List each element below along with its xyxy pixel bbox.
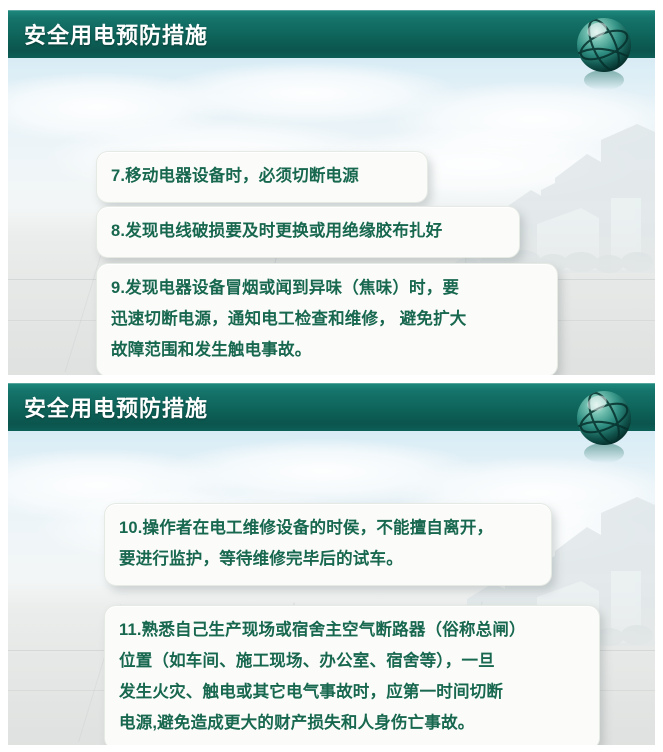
- bubble-text-line: 8.发现电线破损要及时更换或用绝缘胶布扎好: [111, 216, 505, 247]
- bubble-text-line: 9.发现电器设备冒烟或闻到异味（焦味）时，要: [111, 273, 543, 304]
- list-item[interactable]: 11.熟悉自己生产现场或宿舍主空气断路器（俗称总闸） 位置（如车间、施工现场、办…: [104, 605, 600, 745]
- list-item[interactable]: 8.发现电线破损要及时更换或用绝缘胶布扎好: [96, 206, 520, 258]
- slide-1-bubble-list: 7.移动电器设备时，必须切断电源 8.发现电线破损要及时更换或用绝缘胶布扎好 9…: [8, 58, 655, 375]
- slide-1-title: 安全用电预防措施: [24, 18, 208, 50]
- bubble-text-line: 7.移动电器设备时，必须切断电源: [111, 161, 413, 192]
- bubble-text-line: 故障范围和发生触电事故。: [111, 335, 543, 366]
- bubble-text-line: 位置（如车间、施工现场、办公室、宿舍等），一旦: [119, 646, 585, 677]
- bubble-text-line: 要进行监护，等待维修完毕后的试车。: [119, 544, 537, 575]
- bubble-text-line: 发生火灾、触电或其它电气事故时，应第一时间切断: [119, 677, 585, 708]
- bubble-text-line: 11.熟悉自己生产现场或宿舍主空气断路器（俗称总闸）: [119, 615, 585, 646]
- slide-1-body: 7.移动电器设备时，必须切断电源 8.发现电线破损要及时更换或用绝缘胶布扎好 9…: [8, 58, 655, 375]
- list-item[interactable]: 7.移动电器设备时，必须切断电源: [96, 151, 428, 203]
- slide-2-title: 安全用电预防措施: [24, 391, 208, 423]
- slide-2-bubble-list: 10.操作者在电工维修设备的时侯，不能擅自离开， 要进行监护，等待维修完毕后的试…: [8, 431, 655, 745]
- bubble-text-line: 电源,避免造成更大的财产损失和人身伤亡事故。: [119, 708, 585, 739]
- slide-1-header-bar: 安全用电预防措施: [8, 10, 655, 58]
- list-item[interactable]: 9.发现电器设备冒烟或闻到异味（焦味）时，要 迅速切断电源，通知电工检查和维修，…: [96, 263, 558, 375]
- bubble-text-line: 迅速切断电源，通知电工检查和维修， 避免扩大: [111, 304, 543, 335]
- slide-panel-1: 安全用电预防措施: [8, 10, 655, 375]
- slide-2-header-bar: 安全用电预防措施: [8, 383, 655, 431]
- presentation-page: 安全用电预防措施: [0, 0, 663, 752]
- list-item[interactable]: 10.操作者在电工维修设备的时侯，不能擅自离开， 要进行监护，等待维修完毕后的试…: [104, 503, 552, 586]
- slide-2-body: 10.操作者在电工维修设备的时侯，不能擅自离开， 要进行监护，等待维修完毕后的试…: [8, 431, 655, 745]
- bubble-text-line: 10.操作者在电工维修设备的时侯，不能擅自离开，: [119, 513, 537, 544]
- slide-panel-2: 安全用电预防措施: [8, 383, 655, 745]
